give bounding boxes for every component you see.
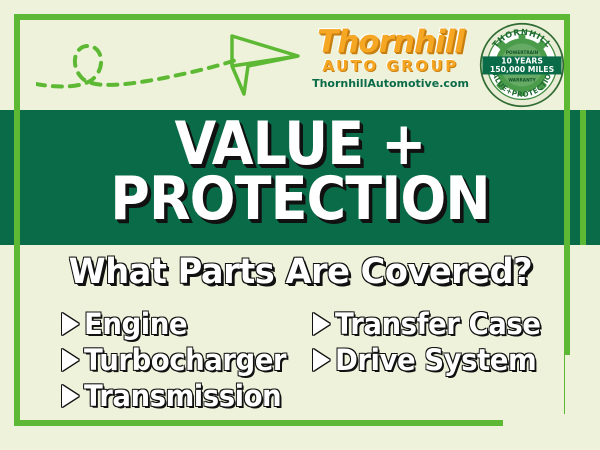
list-item: Drive System [313, 342, 551, 378]
dashed-loop-icon [36, 46, 236, 86]
seal-miles-text: 150,000 MILES [490, 65, 554, 74]
triangle-bullet-icon [313, 313, 330, 335]
headline-line-2: PROTECTION [30, 171, 570, 226]
seal-powertrain-text: POWERTRAIN [506, 50, 539, 56]
parts-column-right: Transfer Case Drive System [313, 306, 551, 378]
covered-parts-list: Engine Turbocharger Transmission Transfe… [62, 306, 562, 418]
flight-path-decoration [36, 22, 306, 104]
parts-column-left: Engine Turbocharger Transmission [62, 306, 297, 414]
warranty-seal-badge: THORNHILL VALUE+PROTECTION POWERTRAIN 10… [479, 22, 565, 108]
headline-line-1: VALUE + [30, 112, 570, 171]
part-label: Transfer Case [335, 307, 541, 341]
logo-wordmark: Thornhill [308, 26, 473, 58]
logo-subtitle: AUTO GROUP [308, 58, 473, 75]
subtitle-group: What Parts Are Covered? [0, 252, 600, 292]
part-label: Transmission [84, 379, 281, 413]
triangle-bullet-icon [62, 349, 79, 371]
list-item: Turbocharger [62, 342, 297, 378]
list-item: Engine [62, 306, 297, 342]
part-label: Drive System [335, 343, 536, 377]
triangle-bullet-icon [62, 385, 79, 407]
brand-logo[interactable]: Thornhill AUTO GROUP ThornhillAutomotive… [308, 26, 473, 104]
part-label: Turbocharger [84, 343, 286, 377]
list-item: Transfer Case [313, 306, 551, 342]
seal-warranty-text: WARRANTY [508, 77, 536, 83]
paper-plane-fold-icon [232, 56, 298, 66]
part-label: Engine [84, 307, 187, 341]
headline-group: VALUE + PROTECTION [0, 112, 600, 226]
seal-years-text: 10 YEARS [501, 56, 543, 65]
triangle-bullet-icon [313, 349, 330, 371]
frame-gap-right [565, 355, 577, 427]
logo-website: ThornhillAutomotive.com [308, 77, 473, 91]
coverage-question: What Parts Are Covered? [68, 252, 532, 292]
triangle-bullet-icon [62, 313, 79, 335]
list-item: Transmission [62, 378, 297, 414]
promo-banner: Thornhill AUTO GROUP ThornhillAutomotive… [0, 0, 600, 450]
